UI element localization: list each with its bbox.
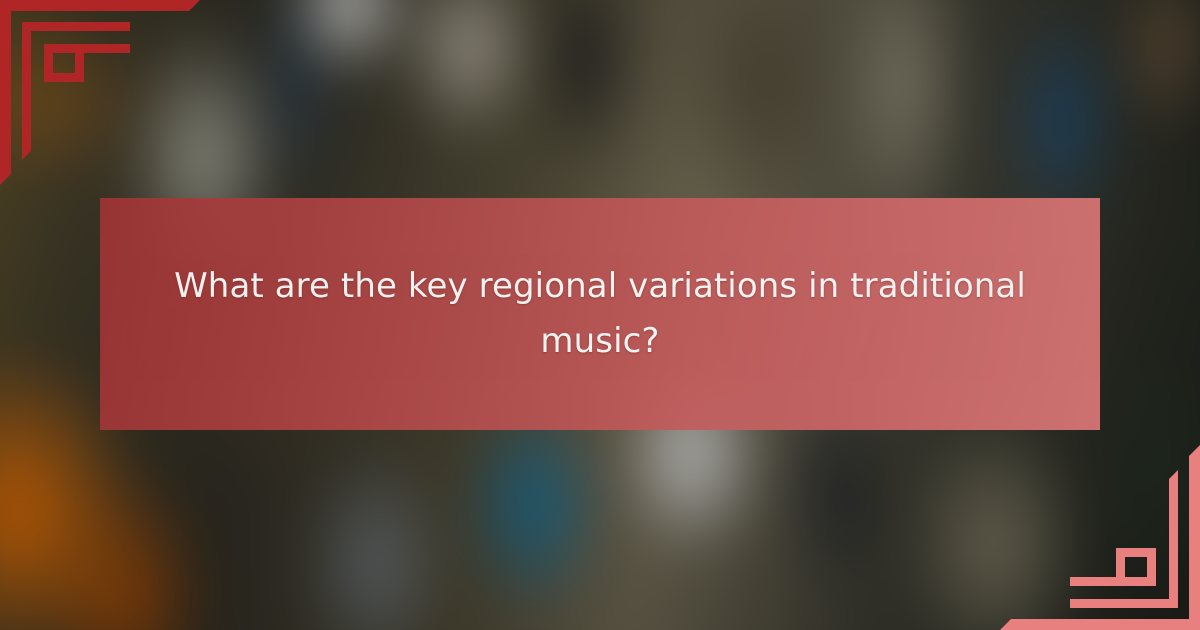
question-banner: What are the key regional variations in … [100,198,1100,430]
corner-ornament-bottom-right [990,435,1200,630]
ornament-tl-inner-horizontal [22,22,130,31]
corner-ornament-top-left [0,0,210,195]
ornament-tl-outer-horizontal [0,0,200,11]
ornament-tl-accent-horizontal [44,44,130,53]
ornament-br-outer-vertical [1189,445,1200,630]
ornament-br-inner-horizontal [1070,599,1178,608]
poster-canvas: What are the key regional variations in … [0,0,1200,630]
ornament-tl-outer-vertical [0,0,11,185]
ornament-br-inner-vertical [1169,470,1178,608]
question-title: What are the key regional variations in … [160,259,1040,369]
ornament-tl-inner-vertical [22,22,31,160]
ornament-br-outer-horizontal [1000,619,1200,630]
ornament-tl-square-bottom [44,73,84,82]
ornament-br-accent-horizontal [1070,577,1156,586]
ornament-br-square-top [1116,548,1156,557]
